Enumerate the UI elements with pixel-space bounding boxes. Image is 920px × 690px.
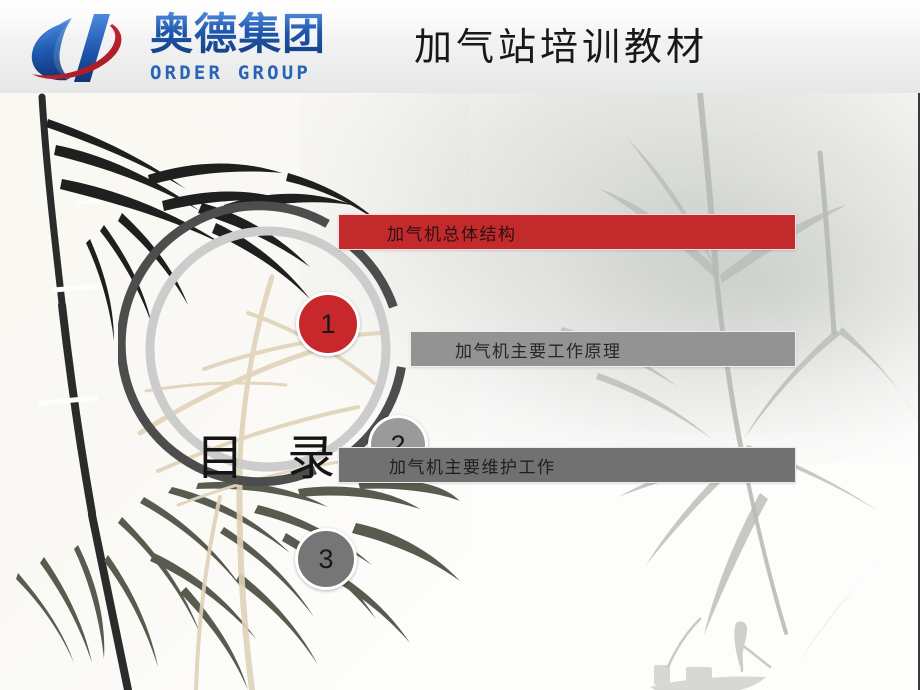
toc-item-bar-1[interactable]: 加气机总体结构 — [338, 214, 796, 250]
toc-center-title: 目 录 — [196, 418, 349, 488]
toc-item-bubble-1[interactable]: 1 — [296, 292, 360, 356]
toc-item-number-3: 3 — [318, 546, 333, 573]
toc-item-label-3: 加气机主要维护工作 — [339, 453, 556, 478]
toc-item-bar-2[interactable]: 加气机主要工作原理 — [410, 331, 796, 367]
order-group-swoosh-logo — [24, 10, 144, 86]
toc-item-label-1: 加气机总体结构 — [339, 220, 517, 245]
page-title: 加气站培训教材 — [414, 16, 708, 71]
slide-body: 目 录 加气机总体结构 1 加气机主要工作原理 2 加气机主要维护工作 3 — [0, 93, 920, 690]
toc-item-number-1: 1 — [320, 311, 335, 338]
toc-item-bar-3[interactable]: 加气机主要维护工作 — [338, 447, 796, 483]
logo-english-name: ORDER GROUP — [150, 62, 366, 84]
logo-chinese-name: 奥德集团 — [150, 10, 366, 60]
slide: 奥德集团 ORDER GROUP 加气站培训教材 — [0, 0, 920, 690]
mist-wash-inner — [470, 133, 920, 433]
slide-header: 奥德集团 ORDER GROUP 加气站培训教材 — [0, 0, 920, 93]
toc-item-label-2: 加气机主要工作原理 — [411, 337, 622, 362]
ink-fishing-boat-icon — [640, 583, 900, 690]
toc-item-bubble-3[interactable]: 3 — [295, 528, 357, 590]
logo-wordmark: 奥德集团 ORDER GROUP — [150, 10, 366, 86]
